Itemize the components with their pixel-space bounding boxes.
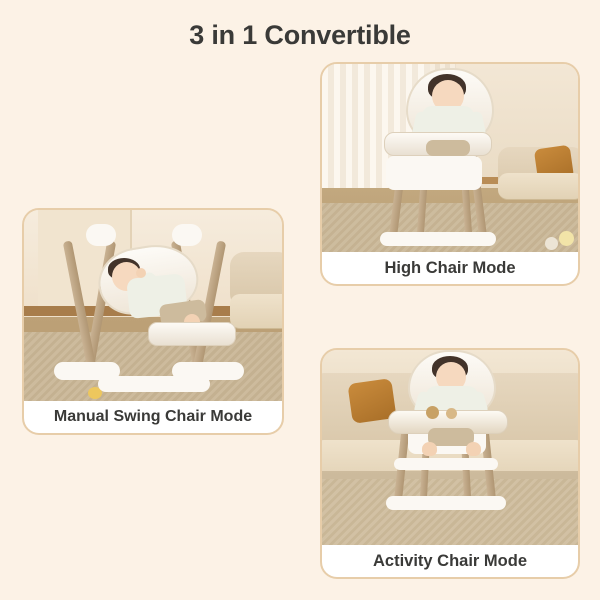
label-text: Activity Chair Mode xyxy=(373,552,527,571)
photo-high-chair-mode xyxy=(322,64,578,252)
label-text: High Chair Mode xyxy=(384,259,515,278)
label-manual-swing-chair-mode: Manual Swing Chair Mode xyxy=(24,401,282,433)
card-activity-chair-mode[interactable]: Activity Chair Mode xyxy=(320,348,580,579)
page-title: 3 in 1 Convertible xyxy=(0,20,600,51)
card-manual-swing-chair-mode[interactable]: Manual Swing Chair Mode xyxy=(22,208,284,435)
photo-activity-chair-mode xyxy=(322,350,578,545)
photo-manual-swing-chair-mode xyxy=(24,210,282,401)
label-text: Manual Swing Chair Mode xyxy=(54,408,252,426)
card-high-chair-mode[interactable]: High Chair Mode xyxy=(320,62,580,286)
label-high-chair-mode: High Chair Mode xyxy=(322,252,578,284)
label-activity-chair-mode: Activity Chair Mode xyxy=(322,545,578,577)
